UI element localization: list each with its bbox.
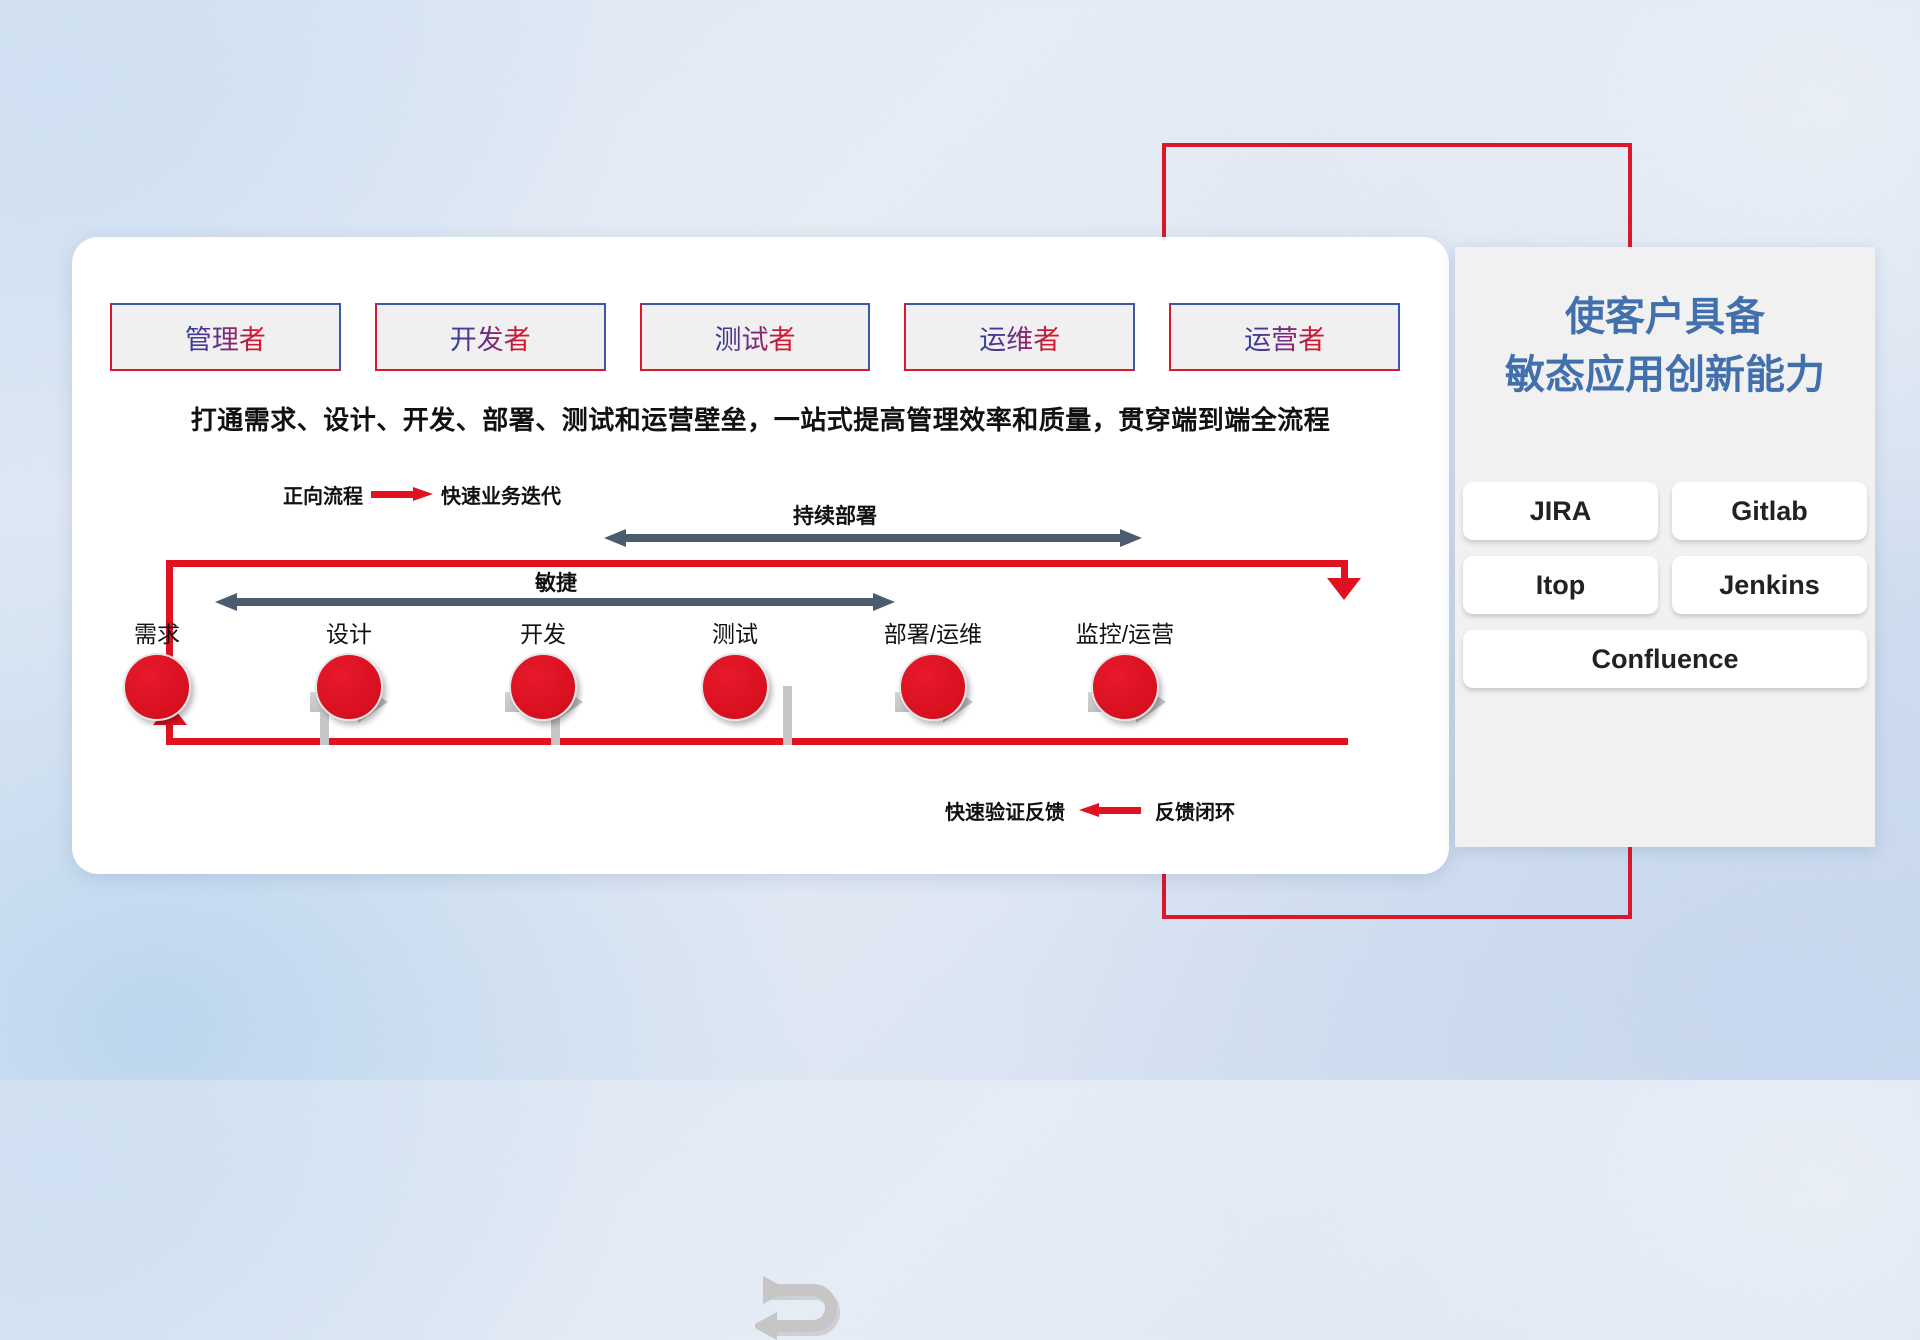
arrow-left-red-icon [1079, 803, 1141, 817]
role-label: 开发者 [450, 318, 531, 357]
stage-dot-icon [899, 653, 967, 721]
role-label: 运维者 [979, 318, 1060, 357]
right-panel-title-line1: 使客户具备 [1455, 288, 1875, 346]
stage-dot-icon [123, 653, 191, 721]
stage-dot-icon [315, 653, 383, 721]
span-arrow-continuous-deploy [604, 529, 1142, 547]
tool-chip-jenkins[interactable]: Jenkins [1672, 556, 1867, 614]
feedback-loop-top-line [166, 560, 1348, 567]
stage-label: 测试 [660, 615, 810, 649]
stage-label: 部署/运维 [858, 615, 1008, 649]
legend-forward-flow: 正向流程 快速业务迭代 [283, 479, 561, 509]
stage-design[interactable]: 设计 [274, 615, 424, 721]
stage-label: 需求 [82, 615, 232, 649]
legend-feedback-loop: 快速验证反馈 反馈闭环 [945, 795, 1235, 825]
role-label: 运营者 [1244, 318, 1325, 357]
right-panel-title-line2: 敏态应用创新能力 [1455, 346, 1875, 404]
legend-forward-from-label: 正向流程 [283, 480, 363, 509]
right-panel-title: 使客户具备 敏态应用创新能力 [1455, 288, 1875, 404]
role-box-tester[interactable]: 测试者 [640, 303, 871, 371]
stage-dot-icon [701, 653, 769, 721]
stage-label: 监控/运营 [1050, 615, 1200, 649]
arrow-right-red-icon [371, 487, 433, 501]
tool-chip-confluence[interactable]: Confluence [1463, 630, 1867, 688]
role-box-manager[interactable]: 管理者 [110, 303, 341, 371]
stage-development[interactable]: 开发 [468, 615, 618, 721]
role-box-developer[interactable]: 开发者 [375, 303, 606, 371]
tool-chip-jira[interactable]: JIRA [1463, 482, 1658, 540]
stage-dot-icon [509, 653, 577, 721]
legend-feedback-to-label: 反馈闭环 [1155, 796, 1235, 825]
span-label-continuous-deploy: 持续部署 [793, 500, 877, 530]
legend-forward-to-label: 快速业务迭代 [441, 480, 561, 509]
loop-back-arrow-icon [755, 1270, 851, 1340]
outer-bracket-right-upper [1628, 143, 1632, 253]
pipeline: 需求 设计 开发 测试 部署/运维 监控/运营 [110, 615, 1410, 740]
span-arrow-agile [215, 593, 895, 611]
description-text: 打通需求、设计、开发、部署、测试和运营壁垒，一站式提高管理效率和质量，贯穿端到端… [72, 400, 1449, 437]
stage-label: 设计 [274, 615, 424, 649]
outer-bracket-bottom [1162, 915, 1632, 919]
tool-chip-itop[interactable]: Itop [1463, 556, 1658, 614]
stage-testing[interactable]: 测试 [660, 615, 810, 721]
outer-bracket-right-lower [1628, 845, 1632, 919]
tool-grid: JIRA Gitlab Itop Jenkins Confluence [1463, 482, 1867, 688]
role-box-ops[interactable]: 运维者 [904, 303, 1135, 371]
role-row: 管理者 开发者 测试者 运维者 运营者 [110, 303, 1400, 371]
legend-feedback-from-label: 快速验证反馈 [945, 796, 1065, 825]
role-label: 管理者 [185, 318, 266, 357]
role-box-operator[interactable]: 运营者 [1169, 303, 1400, 371]
stage-deploy-ops[interactable]: 部署/运维 [858, 615, 1008, 721]
arrow-down-red-icon [1327, 578, 1361, 600]
stage-monitor-operation[interactable]: 监控/运营 [1050, 615, 1200, 721]
stage-dot-icon [1091, 653, 1159, 721]
stage-label: 开发 [468, 615, 618, 649]
role-label: 测试者 [714, 318, 795, 357]
tool-chip-gitlab[interactable]: Gitlab [1672, 482, 1867, 540]
outer-bracket-top [1162, 143, 1632, 147]
stage-requirement[interactable]: 需求 [82, 615, 232, 721]
